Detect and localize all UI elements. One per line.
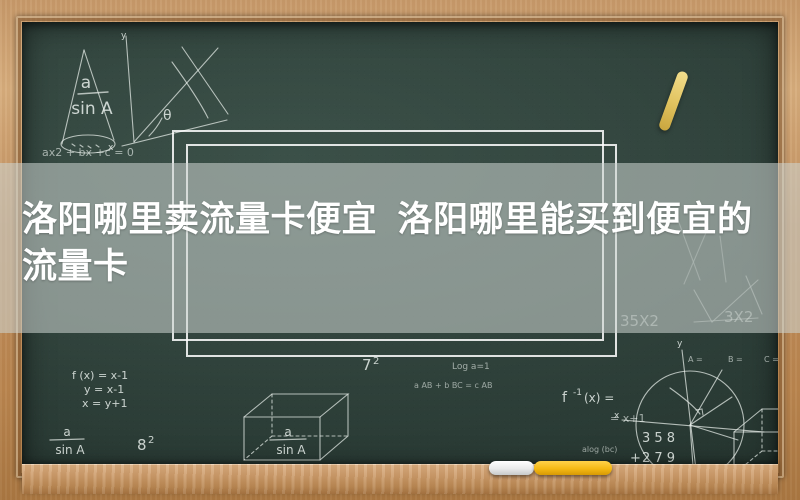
chalk-addition-line1: 3 5 8 bbox=[642, 431, 675, 446]
yellow-chalk-icon bbox=[534, 461, 612, 475]
chalk-quadratic-equation: ax2 + bx +c = 0 bbox=[42, 146, 134, 159]
chalk-inverse-function-base: f bbox=[562, 390, 568, 406]
chalk-power-7-base: 7 bbox=[362, 356, 372, 374]
ledge-wood-grain bbox=[22, 464, 778, 494]
chalk-fraction-left-num: a bbox=[63, 425, 70, 439]
chalk-matrix-c-label: C = bbox=[764, 355, 778, 364]
chalk-circle-axis-y: y bbox=[677, 339, 683, 349]
chalk-fraction-numerator-topleft: a bbox=[81, 73, 91, 93]
chalk-fraction-mid-den: sin A bbox=[276, 443, 306, 457]
cube-drawing-right bbox=[734, 409, 778, 472]
chalk-power-8-base: 8 bbox=[137, 436, 147, 454]
chalk-inverse-function-arg: (x) = bbox=[584, 391, 614, 405]
chalk-axis-y-topleft: y bbox=[121, 31, 127, 41]
chalk-fraction-denominator-topleft: sin A bbox=[71, 99, 113, 119]
chalk-fraction-mid-num: a bbox=[284, 425, 291, 439]
chalk-alog-note: alog (bc) bbox=[582, 445, 617, 454]
white-chalk-icon bbox=[489, 461, 534, 475]
chalk-circle-axis-x: x bbox=[614, 411, 620, 421]
screenshot-root: a sin A y x θ ax2 + bx +c = 0 f (x) = x-… bbox=[0, 0, 800, 500]
chalk-vector-note: a AB + b BC = c AB bbox=[414, 381, 492, 390]
chalk-power-8-exponent: 2 bbox=[148, 435, 154, 446]
page-title: 洛阳哪里卖流量卡便宜 洛阳哪里能买到便宜的流量卡 bbox=[22, 196, 782, 290]
chalk-power-7-exponent: 2 bbox=[373, 356, 379, 367]
chalk-inverse-function-exponent: -1 bbox=[573, 388, 582, 398]
chalk-function-line-1: f (x) = x-1 bbox=[72, 369, 128, 382]
chalk-matrix-b-label: B = bbox=[728, 355, 743, 364]
chalk-matrix-a-label: A = bbox=[688, 355, 703, 364]
chalk-fraction-left-den: sin A bbox=[55, 443, 85, 457]
chalk-log-note: Log a=1 bbox=[452, 362, 490, 372]
chalk-tray-ledge bbox=[22, 464, 778, 494]
chalk-angle-symbol-topleft: θ bbox=[163, 108, 172, 124]
chalk-function-line-2: y = x-1 bbox=[84, 383, 124, 396]
chalk-function-line-3: x = y+1 bbox=[82, 397, 127, 410]
